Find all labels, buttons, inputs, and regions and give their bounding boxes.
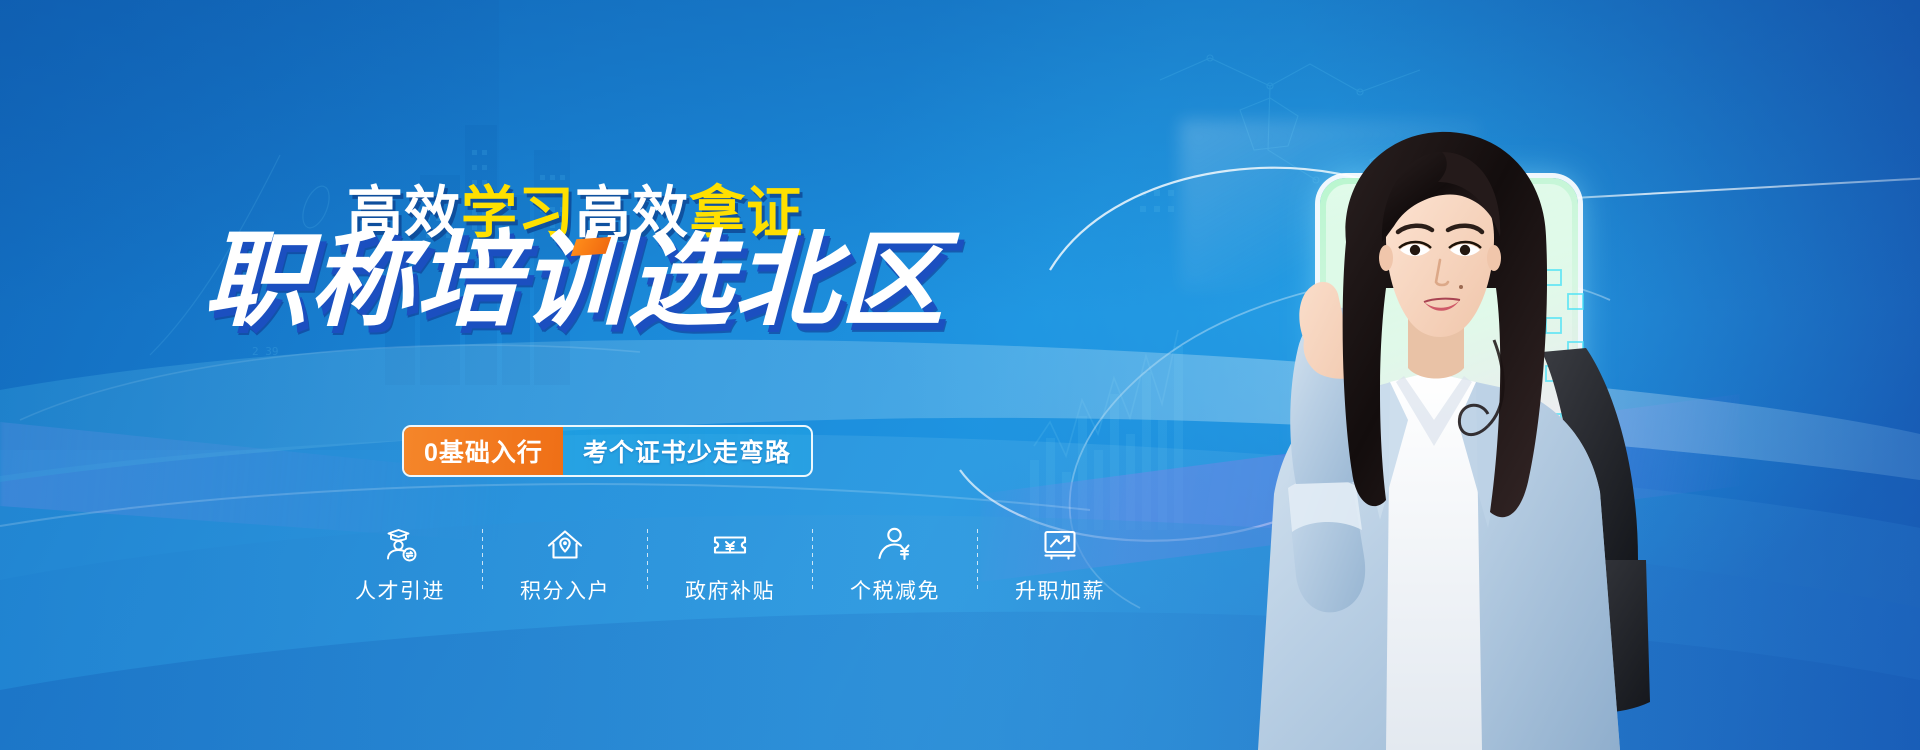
feature-item-talent[interactable]: 人才引进 [318, 525, 482, 605]
badge-right-label: 考个证书少走弯路 [563, 427, 811, 475]
orange-accent-mark-icon [571, 237, 612, 256]
banner-copy: 高效学习高效拿证 职称培训选北区 0基础入行 考个证书少走弯路 [0, 0, 1150, 750]
businesswoman-figure [1090, 90, 1790, 750]
graduate-talent-icon [380, 525, 420, 565]
chart-board-promotion-icon [1040, 525, 1080, 565]
figure-group [1090, 90, 1790, 750]
feature-label: 人才引进 [355, 575, 445, 605]
house-residence-icon [545, 525, 585, 565]
promo-banner: 2 39 [0, 0, 1920, 750]
subtitle-badge: 0基础入行 考个证书少走弯路 [402, 425, 813, 477]
feature-list: 人才引进 积分入户 [318, 525, 1142, 605]
feature-item-promotion[interactable]: 升职加薪 [978, 525, 1142, 605]
ticket-yuan-subsidy-icon [710, 525, 750, 565]
feature-item-tax[interactable]: 个税减免 [813, 525, 977, 605]
feature-label: 升职加薪 [1015, 575, 1105, 605]
feature-item-residence[interactable]: 积分入户 [483, 525, 647, 605]
feature-item-subsidy[interactable]: 政府补贴 [648, 525, 812, 605]
feature-label: 积分入户 [520, 575, 610, 605]
feature-label: 政府补贴 [685, 575, 775, 605]
feature-label: 个税减免 [850, 575, 940, 605]
person-yuan-tax-icon [875, 525, 915, 565]
badge-left-label: 0基础入行 [404, 427, 563, 475]
